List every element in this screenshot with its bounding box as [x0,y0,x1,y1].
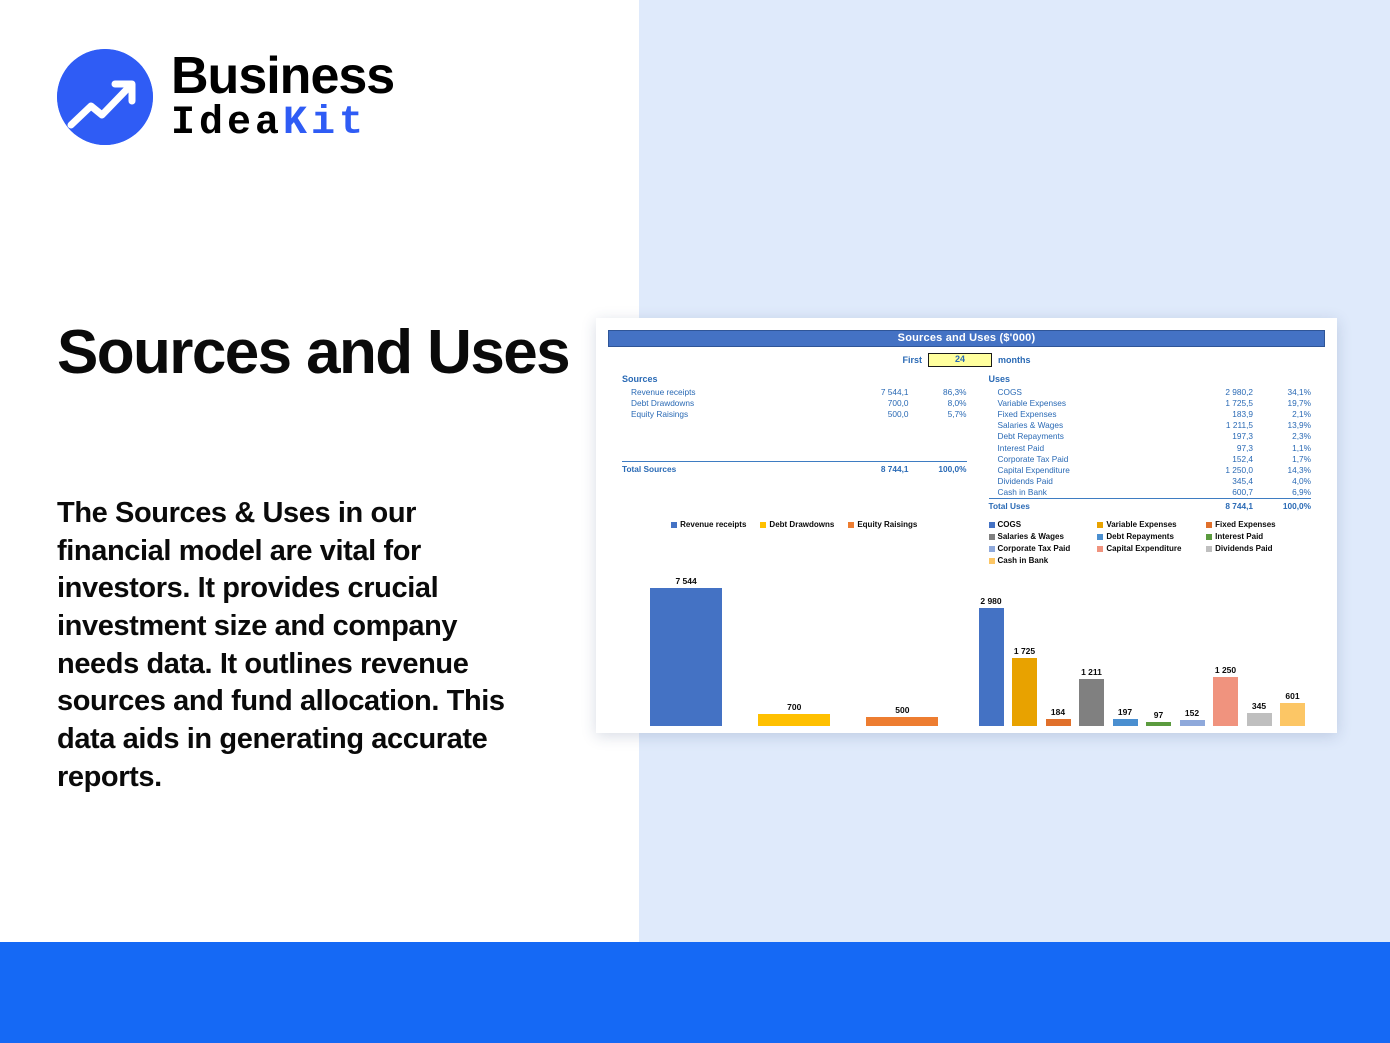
legend-swatch-icon [1206,546,1212,552]
bar-value-label: 2 980 [980,596,1001,606]
row-pct: 6,9% [1253,487,1311,499]
bar-column: 97 [1146,571,1171,726]
legend-item: Equity Raisings [848,520,917,529]
footer-accent-bar [0,942,1390,1043]
bar-value-label: 700 [787,702,801,712]
row-pct: 2,1% [1253,408,1311,419]
bar-value-label: 1 250 [1215,665,1236,675]
table-row: COGS 2 980,2 34,1% [989,386,1312,397]
legend-swatch-icon [1097,522,1103,528]
row-value: 500,0 [837,408,909,419]
row-label: Revenue receipts [622,386,837,397]
row-pct: 1,1% [1253,442,1311,453]
legend-item: Interest Paid [1206,532,1311,541]
legend-item: Cash in Bank [989,556,1094,565]
bar-column: 1 250 [1213,571,1238,726]
legend-swatch-icon [1206,522,1212,528]
row-pct: 86,3% [909,386,967,397]
bar [1180,720,1205,726]
legend-swatch-icon [1097,534,1103,540]
table-row: Corporate Tax Paid 152,4 1,7% [989,453,1312,464]
bar-column: 1 725 [1012,571,1037,726]
row-label: Corporate Tax Paid [989,453,1182,464]
legend-item: Dividends Paid [1206,544,1311,553]
bar-column: 2 980 [979,571,1004,726]
legend-item: Variable Expenses [1097,520,1202,529]
bar-value-label: 152 [1185,708,1199,718]
bar-column: 152 [1180,571,1205,726]
row-label: Debt Repayments [989,431,1182,442]
uses-total-row: Total Uses 8 744,1 100,0% [989,498,1312,511]
legend-item: COGS [989,520,1094,529]
legend-label: Revenue receipts [680,520,746,529]
bar-value-label: 1 725 [1014,646,1035,656]
bar-column: 184 [1046,571,1071,726]
months-input[interactable]: 24 [928,353,992,367]
legend-label: Debt Repayments [1106,532,1174,541]
legend-item: Fixed Expenses [1206,520,1311,529]
row-pct: 5,7% [909,408,967,419]
brand-word-kit: Kit [283,101,367,146]
row-label: Dividends Paid [989,476,1182,487]
bar-value-label: 184 [1051,707,1065,717]
table-row: Salaries & Wages 1 211,5 13,9% [989,420,1312,431]
legend-swatch-icon [989,558,995,564]
total-value: 8 744,1 [1181,498,1253,511]
legend-item: Corporate Tax Paid [989,544,1094,553]
table-row: Equity Raisings 500,0 5,7% [622,408,967,419]
period-selector: First 24 months [608,353,1325,367]
bar-value-label: 500 [895,705,909,715]
total-pct: 100,0% [909,462,967,475]
row-pct: 19,7% [1253,397,1311,408]
row-pct: 4,0% [1253,476,1311,487]
bar-column: 7 544 [650,571,722,726]
row-label: Fixed Expenses [989,408,1182,419]
legend-swatch-icon [989,546,995,552]
bar [1247,713,1272,727]
brand-word-idea: Idea [171,101,283,146]
row-label: Capital Expenditure [989,464,1182,475]
legend-label: Dividends Paid [1215,544,1272,553]
bar-column: 500 [866,571,938,726]
bar-column: 1 211 [1079,571,1104,726]
uses-legend: COGSVariable ExpensesFixed ExpensesSalar… [967,520,1312,565]
total-label: Total Sources [622,462,837,475]
period-prefix-label: First [902,355,922,365]
bar [866,717,938,726]
bar-value-label: 1 211 [1081,667,1102,677]
legend-item: Salaries & Wages [989,532,1094,541]
total-value: 8 744,1 [837,462,909,475]
legend-label: Cash in Bank [998,556,1049,565]
row-label: Variable Expenses [989,397,1182,408]
slide-root: Business IdeaKit Sources and Uses The So… [0,0,1390,1043]
sources-table: Sources Revenue receipts 7 544,1 86,3% D… [622,374,967,511]
legend-label: COGS [998,520,1022,529]
table-row: Revenue receipts 7 544,1 86,3% [622,386,967,397]
table-row: Variable Expenses 1 725,5 19,7% [989,397,1312,408]
row-value: 97,3 [1181,442,1253,453]
uses-table: Uses COGS 2 980,2 34,1% Variable Expense… [967,374,1312,511]
bar [1146,722,1171,726]
bar [979,608,1004,726]
sources-total-row: Total Sources 8 744,1 100,0% [622,462,967,475]
bar [650,588,722,726]
legend-swatch-icon [760,522,766,528]
legend-label: Fixed Expenses [1215,520,1275,529]
row-value: 2 980,2 [1181,386,1253,397]
uses-bar-chart: 2 9801 7251841 211197971521 250345601 [967,569,1312,734]
row-label: Debt Drawdowns [622,397,837,408]
bar-column: 345 [1247,571,1272,726]
chart-legends: Revenue receiptsDebt DrawdownsEquity Rai… [608,520,1325,565]
row-value: 7 544,1 [837,386,909,397]
table-row: Interest Paid 97,3 1,1% [989,442,1312,453]
bar [1280,703,1305,727]
legend-swatch-icon [989,534,995,540]
legend-label: Variable Expenses [1106,520,1176,529]
table-row: Cash in Bank 600,7 6,9% [989,487,1312,499]
legend-swatch-icon [671,522,677,528]
row-label: Cash in Bank [989,487,1182,499]
total-pct: 100,0% [1253,498,1311,511]
row-value: 1 211,5 [1181,420,1253,431]
row-label: Salaries & Wages [989,420,1182,431]
row-value: 197,3 [1181,431,1253,442]
legend-label: Interest Paid [1215,532,1263,541]
brand-line-business: Business [171,50,394,102]
row-value: 183,9 [1181,408,1253,419]
legend-label: Debt Drawdowns [769,520,834,529]
bar-value-label: 601 [1285,691,1299,701]
spreadsheet-title-bar: Sources and Uses ($'000) [608,330,1325,347]
sources-bar-chart: 7 544700500 [622,569,967,734]
legend-label: Capital Expenditure [1106,544,1181,553]
table-row: Capital Expenditure 1 250,0 14,3% [989,464,1312,475]
table-row: Fixed Expenses 183,9 2,1% [989,408,1312,419]
row-value: 152,4 [1181,453,1253,464]
legend-swatch-icon [1097,546,1103,552]
period-suffix-label: months [998,355,1031,365]
legend-item: Revenue receipts [671,520,746,529]
row-pct: 1,7% [1253,453,1311,464]
brand-line-idea-kit: IdeaKit [171,104,394,144]
bar-column: 601 [1280,571,1305,726]
bar [1012,658,1037,726]
bar [1213,677,1238,726]
bar-column: 700 [758,571,830,726]
row-pct: 8,0% [909,397,967,408]
legend-swatch-icon [848,522,854,528]
table-row: Debt Drawdowns 700,0 8,0% [622,397,967,408]
bar [1113,719,1138,727]
legend-item: Debt Repayments [1097,532,1202,541]
bar-value-label: 197 [1118,707,1132,717]
brand-logo[interactable]: Business IdeaKit [57,49,394,145]
row-pct: 2,3% [1253,431,1311,442]
bar-value-label: 345 [1252,701,1266,711]
brand-wordmark: Business IdeaKit [171,50,394,144]
row-pct: 34,1% [1253,386,1311,397]
uses-heading: Uses [989,374,1312,384]
legend-label: Salaries & Wages [998,532,1064,541]
row-label: COGS [989,386,1182,397]
row-pct: 14,3% [1253,464,1311,475]
legend-label: Equity Raisings [857,520,917,529]
page-title: Sources and Uses [57,318,577,388]
page-description: The Sources & Uses in our financial mode… [57,495,509,797]
legend-item: Debt Drawdowns [760,520,834,529]
legend-item: Capital Expenditure [1097,544,1202,553]
legend-label: Corporate Tax Paid [998,544,1071,553]
table-row: Dividends Paid 345,4 4,0% [989,476,1312,487]
row-value: 1 250,0 [1181,464,1253,475]
row-value: 700,0 [837,397,909,408]
row-pct: 13,9% [1253,420,1311,431]
growth-arrow-icon [57,49,153,145]
row-value: 600,7 [1181,487,1253,499]
row-value: 345,4 [1181,476,1253,487]
figures-tables: Sources Revenue receipts 7 544,1 86,3% D… [608,374,1325,511]
sources-heading: Sources [622,374,967,384]
bar [758,714,830,727]
row-label: Interest Paid [989,442,1182,453]
bar [1046,719,1071,726]
legend-swatch-icon [989,522,995,528]
total-label: Total Uses [989,498,1182,511]
spreadsheet-screenshot-card: Sources and Uses ($'000) First 24 months… [596,318,1337,733]
table-row: Debt Repayments 197,3 2,3% [989,431,1312,442]
row-value: 1 725,5 [1181,397,1253,408]
bar-value-label: 97 [1154,710,1163,720]
bar-value-label: 7 544 [675,576,696,586]
row-label: Equity Raisings [622,408,837,419]
sources-legend: Revenue receiptsDebt DrawdownsEquity Rai… [622,520,967,565]
bar [1079,679,1104,727]
bar-column: 197 [1113,571,1138,726]
legend-swatch-icon [1206,534,1212,540]
bar-charts: 7 544700500 2 9801 7251841 211197971521 … [608,569,1325,734]
